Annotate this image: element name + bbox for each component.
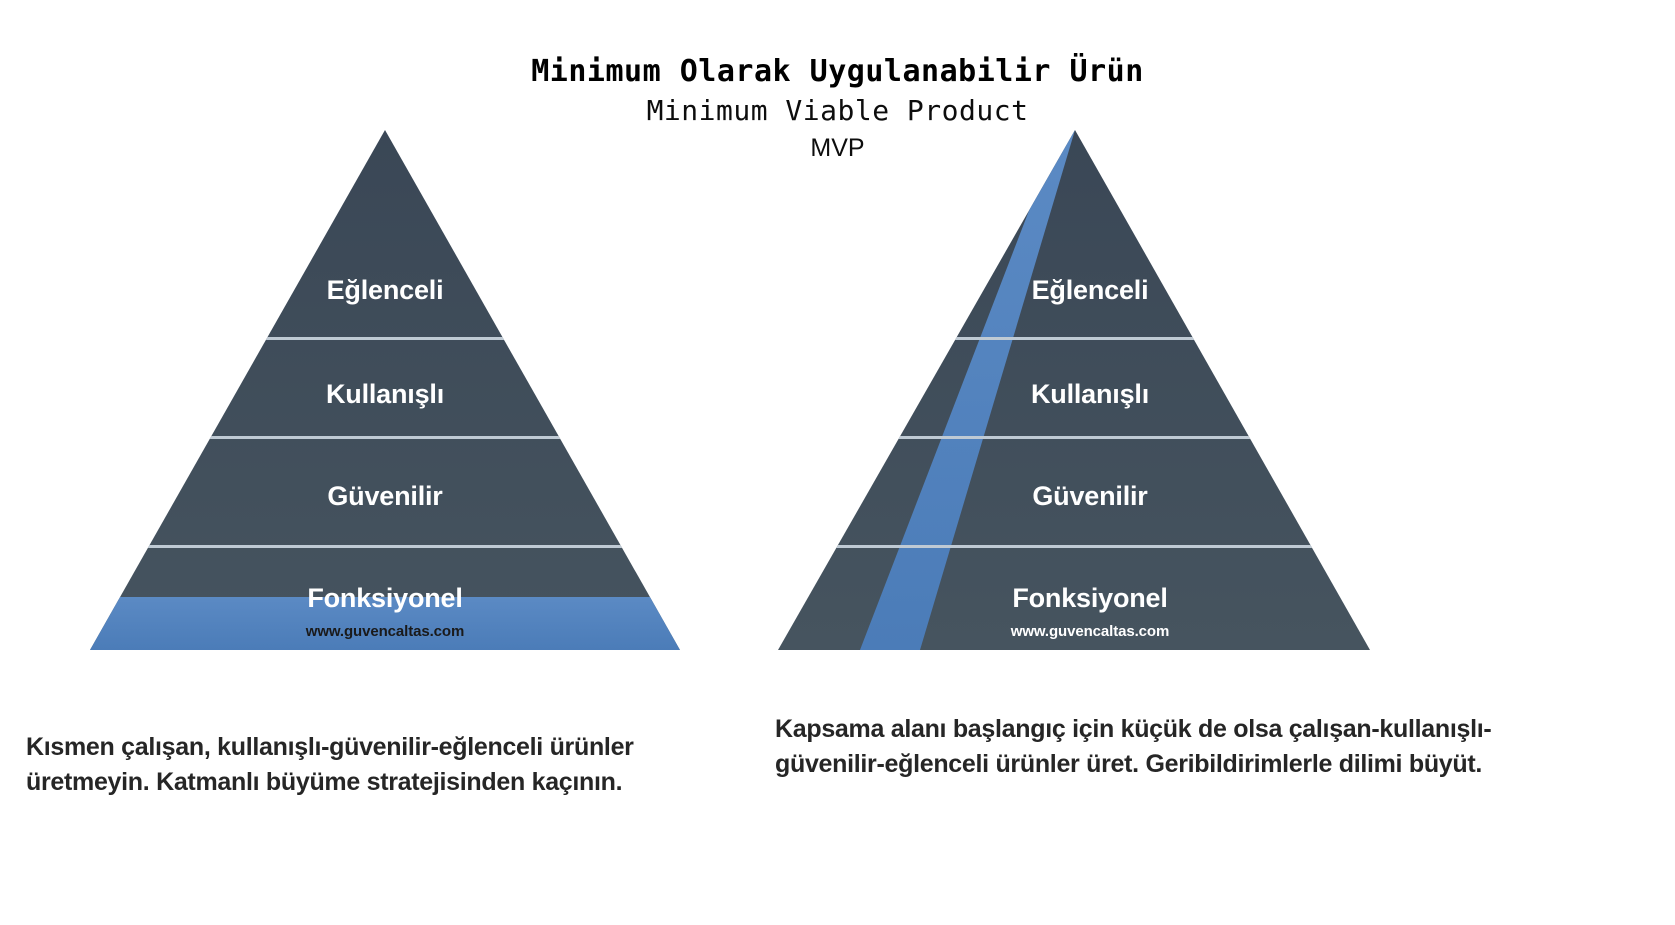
watermark-right: www.guvencaltas.com [940,623,1240,640]
tier-label-fonksiyonel-left: Fonksiyonel [235,583,535,613]
watermark-left: www.guvencaltas.com [235,623,535,640]
tier-label-kullanisli-left: Kullanışlı [235,379,535,409]
caption-right: Kapsama alanı başlangıç için küçük de ol… [775,712,1515,782]
page-title: Minimum Olarak Uygulanabilir Ürün [0,52,1675,92]
tier-label-eglenceli-left: Eğlenceli [235,275,535,305]
tier-label-eglenceli-right: Eğlenceli [940,275,1240,305]
caption-right-text: Kapsama alanı başlangıç için küçük de ol… [775,712,1515,782]
pyramid-right: Eğlenceli Kullanışlı Güvenilir Fonksiyon… [760,125,1440,665]
tier-label-fonksiyonel-right: Fonksiyonel [940,583,1240,613]
pyramid-left: Eğlenceli Kullanışlı Güvenilir Fonksiyon… [60,125,720,665]
slide-canvas: Minimum Olarak Uygulanabilir Ürün Minimu… [0,0,1675,925]
tier-label-kullanisli-right: Kullanışlı [940,379,1240,409]
tier-label-guvenilir-left: Güvenilir [235,481,535,511]
tier-label-guvenilir-right: Güvenilir [940,481,1240,511]
caption-left: Kısmen çalışan, kullanışlı-güvenilir-eğl… [26,730,706,800]
caption-left-text: Kısmen çalışan, kullanışlı-güvenilir-eğl… [26,730,706,800]
